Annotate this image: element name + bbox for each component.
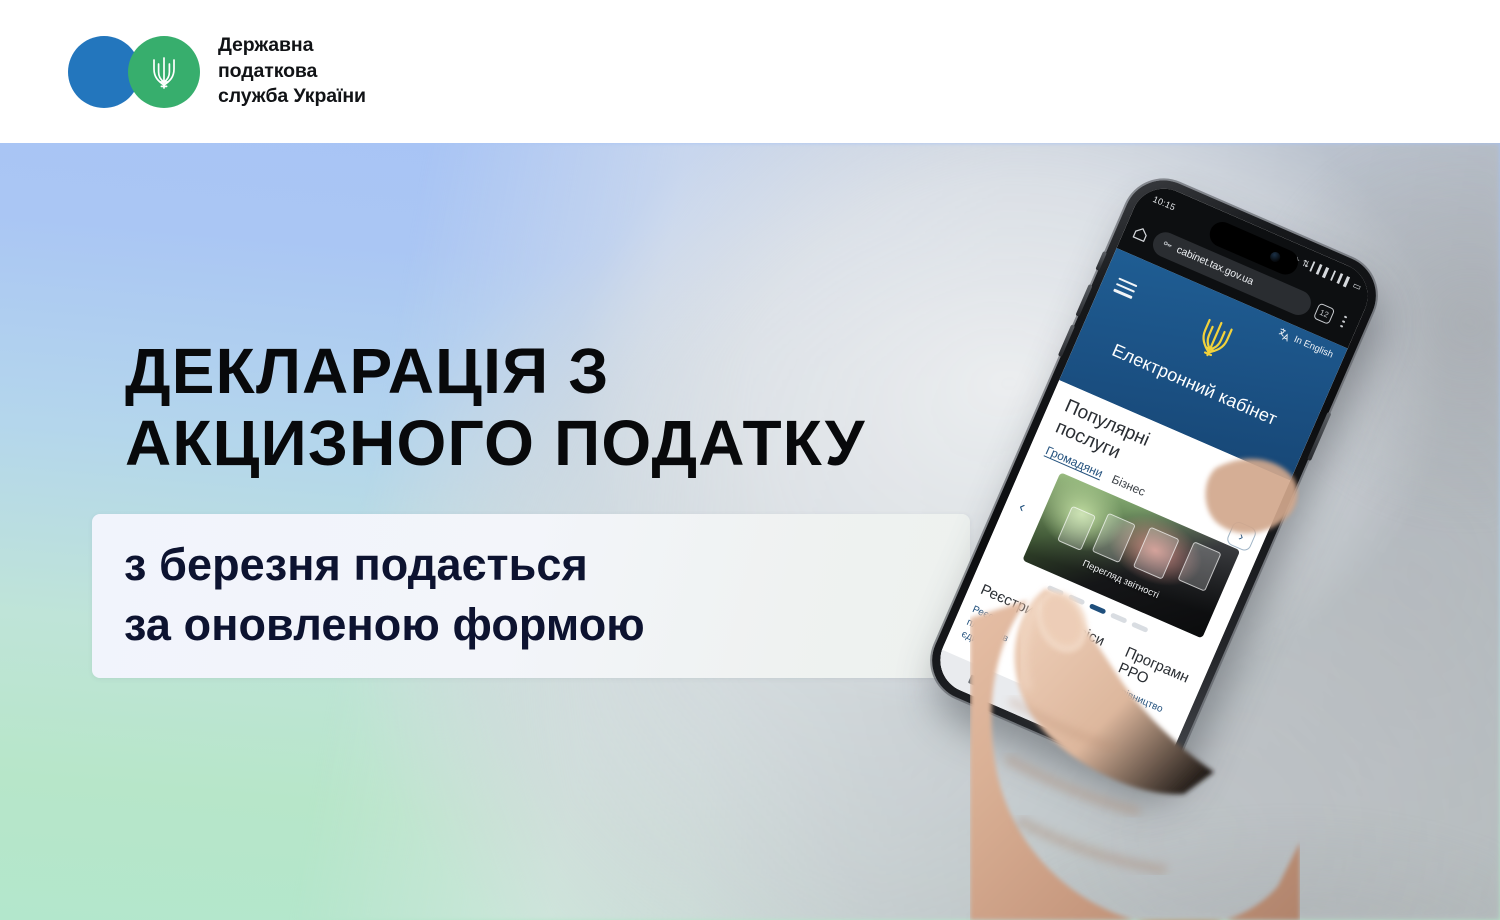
kebab-menu-icon[interactable]	[1336, 314, 1351, 330]
brand-logo[interactable]: Державна податкова служба України	[68, 33, 366, 109]
home-icon[interactable]	[1131, 224, 1151, 244]
hand-holding-phone	[970, 450, 1300, 920]
subtitle-text: з березня подається за оновленою формою	[124, 535, 954, 655]
status-time: 10:15	[1152, 194, 1178, 213]
phone-scene: 10:15 ⌨ ✦ ⇅ ▎▍▌ ▎▍▌ ▭	[980, 150, 1500, 920]
site-header: Державна податкова служба України	[0, 0, 1500, 143]
banner-stage: Державна податкова служба України ДЕКЛАР…	[0, 0, 1500, 920]
logo-marks	[68, 36, 200, 108]
tab-count-button[interactable]: 12	[1313, 302, 1335, 324]
trident-icon	[150, 54, 178, 92]
hamburger-menu-icon[interactable]	[1113, 277, 1137, 298]
subtitle-panel: з березня подається за оновленою формою	[92, 514, 970, 678]
site-settings-icon[interactable]	[1160, 238, 1174, 252]
trident-icon	[1190, 312, 1239, 366]
brand-name: Державна податкова служба України	[218, 33, 366, 109]
translate-icon	[1276, 326, 1293, 343]
page-title: ДЕКЛАРАЦІЯ З АКЦИЗНОГО ПОДАТКУ	[125, 336, 1025, 479]
